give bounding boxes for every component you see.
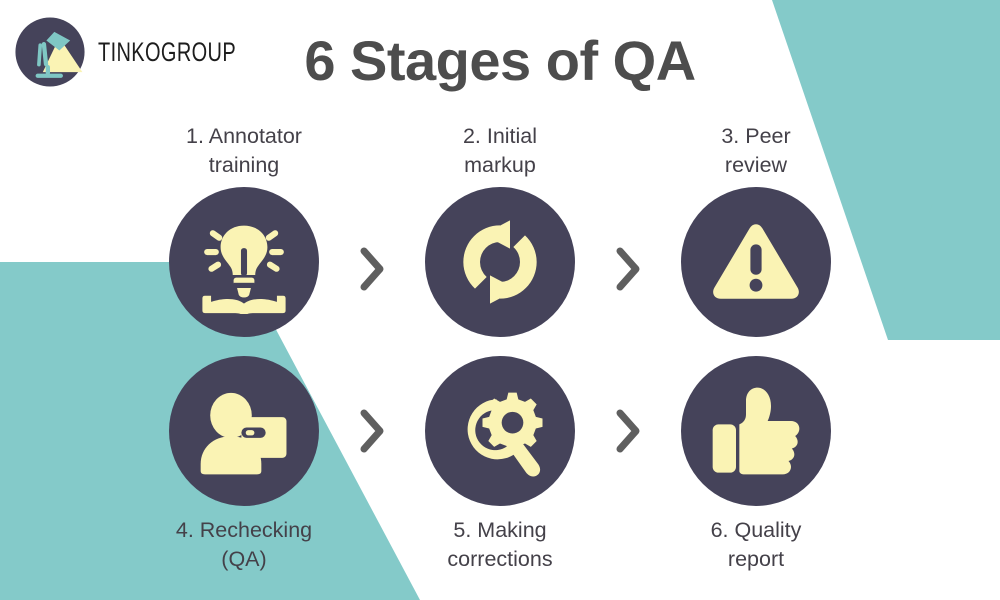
warning-triangle-icon	[708, 214, 804, 310]
stage-1-icon-circle[interactable]	[169, 187, 319, 337]
separator-5-6	[611, 356, 645, 506]
chevron-right-icon	[357, 245, 387, 293]
chevron-right-icon	[613, 407, 643, 455]
stage-5-label: 5. Making corrections	[413, 516, 588, 573]
magnifier-gear-icon	[450, 381, 550, 481]
thumbs-up-icon	[706, 381, 806, 481]
separator-4-5	[355, 356, 389, 506]
stages-grid: 1. Annotator training	[150, 122, 850, 590]
stage-4-label: 4. Rechecking (QA)	[157, 516, 332, 573]
stages-row-top: 1. Annotator training	[150, 122, 850, 352]
stages-row-bottom: 4. Rechecking (QA)	[150, 356, 850, 586]
lightbulb-book-icon	[192, 210, 296, 314]
stage-2-icon-circle[interactable]	[425, 187, 575, 337]
chevron-right-icon	[357, 407, 387, 455]
stage-3-label: 3. Peer review	[669, 122, 844, 179]
stage-5-icon-circle[interactable]	[425, 356, 575, 506]
separator-1-2	[355, 194, 389, 344]
stage-5[interactable]: 5. Making corrections	[406, 356, 594, 573]
user-id-card-icon	[192, 379, 296, 483]
stage-6-label: 6. Quality report	[669, 516, 844, 573]
stage-3-icon-circle[interactable]	[681, 187, 831, 337]
page-title: 6 Stages of QA	[0, 28, 1000, 93]
chevron-right-icon	[613, 245, 643, 293]
stage-2-label: 2. Initial markup	[413, 122, 588, 179]
stage-6-icon-circle[interactable]	[681, 356, 831, 506]
stage-4-icon-circle[interactable]	[169, 356, 319, 506]
stage-1[interactable]: 1. Annotator training	[150, 122, 338, 337]
stage-1-label: 1. Annotator training	[157, 122, 332, 179]
stage-3[interactable]: 3. Peer review	[662, 122, 850, 337]
refresh-cycle-icon	[450, 212, 550, 312]
infographic-canvas: TINKOGROUP 6 Stages of QA 1. Annotator t…	[0, 0, 1000, 600]
stage-6[interactable]: 6. Quality report	[662, 356, 850, 573]
stage-2[interactable]: 2. Initial markup	[406, 122, 594, 337]
separator-2-3	[611, 194, 645, 344]
stage-4[interactable]: 4. Rechecking (QA)	[150, 356, 338, 573]
